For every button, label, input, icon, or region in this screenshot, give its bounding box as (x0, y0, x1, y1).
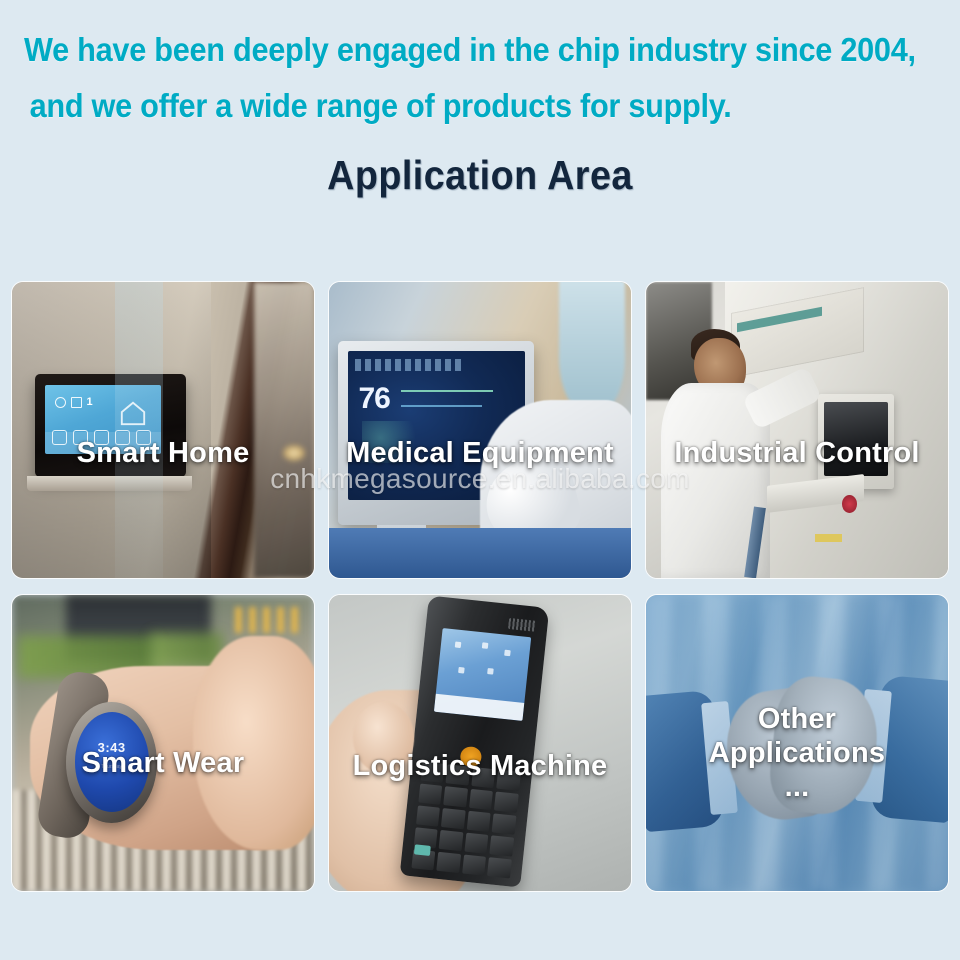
medical-scene: 76 (329, 282, 631, 578)
card-label-smart-home: Smart Home (12, 436, 314, 470)
spo2-waveform (401, 405, 482, 407)
keypad-key (494, 791, 518, 812)
other-applications-line-3: ... (646, 770, 948, 804)
keypad-key (439, 830, 463, 851)
keypad-key (436, 852, 460, 873)
card-smart-home[interactable]: 1 Smart Home (12, 282, 314, 578)
keypad-key (415, 805, 439, 826)
headline-line-1: We have been deeply engaged in the chip … (24, 22, 878, 78)
hand (193, 636, 314, 849)
keypad-key (418, 783, 442, 804)
card-industrial-control[interactable]: Industrial Control (646, 282, 948, 578)
thermostat-icon (71, 397, 82, 408)
screen-icon-2 (481, 642, 488, 649)
keypad-key (441, 808, 465, 829)
ecg-waveform (401, 390, 493, 392)
device-speaker (508, 618, 536, 632)
smart-wear-scene: 3:43 Thursday (12, 595, 314, 891)
keypad-key (443, 786, 467, 807)
glass-reflection (115, 282, 163, 578)
background-lights (235, 607, 301, 634)
vital-value: 76 (358, 384, 389, 414)
function-key (414, 844, 431, 855)
industrial-scene (646, 282, 948, 578)
card-smart-wear[interactable]: 3:43 Thursday Smart Wear (12, 595, 314, 891)
keypad-key (466, 811, 490, 832)
card-medical-equipment[interactable]: 76 Medical Equipment (329, 282, 631, 578)
card-logistics-machine[interactable]: Logistics Machine (329, 595, 631, 891)
sun-icon (55, 397, 66, 408)
screen-icon-3 (504, 650, 511, 657)
monitor-topbar (355, 359, 461, 371)
page-title: Application Area (38, 152, 921, 199)
application-area-grid: 1 Smart Home (12, 282, 948, 891)
screen-icon-5 (487, 668, 494, 675)
keypad-key (464, 832, 488, 853)
card-label-other-applications: Other Applications ... (646, 702, 948, 805)
card-label-medical-equipment: Medical Equipment (329, 436, 631, 470)
panel-shelf (27, 476, 192, 491)
screen-icon-1 (455, 641, 462, 648)
keypad-key (468, 789, 492, 810)
other-applications-line-1: Other (646, 702, 948, 736)
keypad-key (487, 857, 511, 878)
screen-icon-4 (457, 667, 464, 674)
logistics-scene (329, 595, 631, 891)
screen-icon-row: 1 (55, 397, 93, 408)
keypad-key (489, 835, 513, 856)
background-person (559, 282, 625, 412)
machine-warning-label (815, 534, 842, 543)
background-room (254, 282, 314, 578)
card-label-logistics-machine: Logistics Machine (329, 749, 631, 783)
card-other-applications[interactable]: Other Applications ... (646, 595, 948, 891)
blue-drape (329, 528, 631, 578)
card-label-industrial-control: Industrial Control (646, 436, 948, 470)
headline-block: We have been deeply engaged in the chip … (0, 0, 960, 134)
headline-line-2: and we offer a wide range of products fo… (24, 78, 878, 134)
other-applications-line-2: Applications (646, 736, 948, 770)
device-screen (433, 628, 531, 721)
smart-home-scene: 1 (12, 282, 314, 578)
card-label-smart-wear: Smart Wear (12, 746, 314, 780)
keypad-key (462, 854, 486, 875)
screen-value: 1 (87, 397, 93, 408)
keypad-key (492, 813, 516, 834)
